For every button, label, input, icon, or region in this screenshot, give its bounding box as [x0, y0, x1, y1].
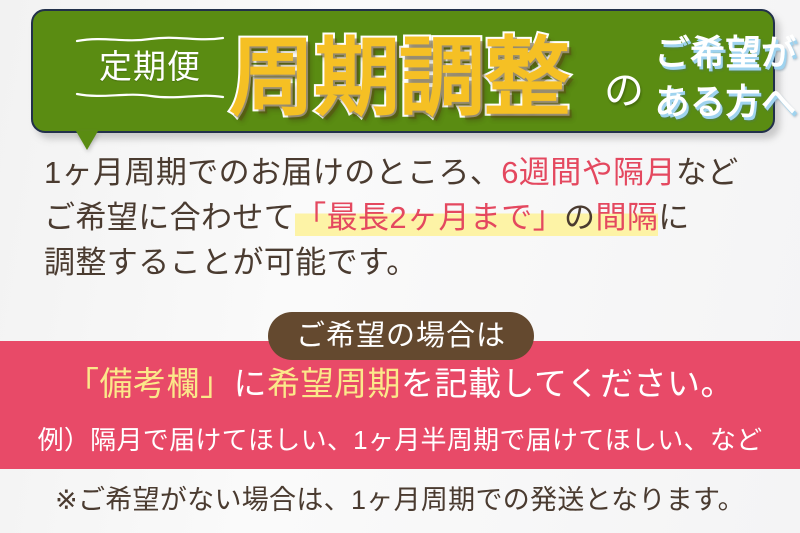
subscription-badge-label: 定期便 [75, 44, 225, 90]
subscription-badge: 定期便 [75, 35, 225, 99]
body-paragraph: 1ヶ月周期でのお届けのところ、6週間や隔月など ご希望に合わせて「最長2ヶ月まで… [44, 150, 760, 285]
body-line-2-part-a: ご希望に合わせて [44, 200, 295, 235]
header-wish-block: ご希望が ある方へ [648, 29, 800, 127]
body-line-2-particle: の [564, 200, 595, 236]
band-main-accent-cycle: 希望周期 [267, 365, 401, 402]
body-line-2-accent-interval: 間隔 [595, 200, 658, 236]
band-main-particle: に [233, 365, 267, 402]
band-main-accent-field: 「備考欄」 [66, 365, 234, 402]
body-line-1-accent: 6週間や隔月 [501, 155, 676, 190]
header-particle: の [604, 68, 644, 114]
request-pill-label: ご希望の場合は [296, 319, 506, 353]
band-main-message: 「備考欄」に希望周期を記載してください。 [0, 363, 800, 405]
band-example-text: 例）隔月で届けてほしい、1ヶ月半周期で届けてほしい、など [0, 423, 800, 457]
body-line-1-part-c: など [676, 155, 739, 190]
header-bubble: 定期便 周期調整 の ご希望が ある方へ [31, 9, 775, 133]
promotional-banner: 定期便 周期調整 の ご希望が ある方へ 1ヶ月周期でのお届けのところ、6週間や… [0, 0, 800, 533]
band-main-instruction: を記載してください。 [401, 365, 734, 402]
footer-note: ※ご希望がない場合は、1ヶ月周期での発送となります。 [0, 482, 800, 518]
body-line-1: 1ヶ月周期でのお届けのところ、6週間や隔月など [44, 150, 760, 195]
body-line-2-accent-quoted: 「最長2ヶ月まで」 [295, 200, 564, 236]
bubble-tail-icon [76, 131, 98, 150]
header-wish-line-2: ある方へ [648, 78, 800, 127]
body-line-3: 調整することが可能です。 [44, 240, 760, 285]
wave-rule-top-icon [75, 35, 225, 44]
body-line-2: ご希望に合わせて「最長2ヶ月まで」の間隔に [44, 195, 760, 240]
header-wish-line-1: ご希望が [648, 29, 800, 78]
body-line-2-part-e: に [658, 200, 689, 235]
header-main-title: 周期調整 [229, 26, 569, 130]
wave-rule-bottom-icon [75, 90, 225, 99]
body-line-1-part-a: 1ヶ月周期でのお届けのところ、 [44, 155, 501, 190]
request-pill: ご希望の場合は [268, 312, 534, 360]
